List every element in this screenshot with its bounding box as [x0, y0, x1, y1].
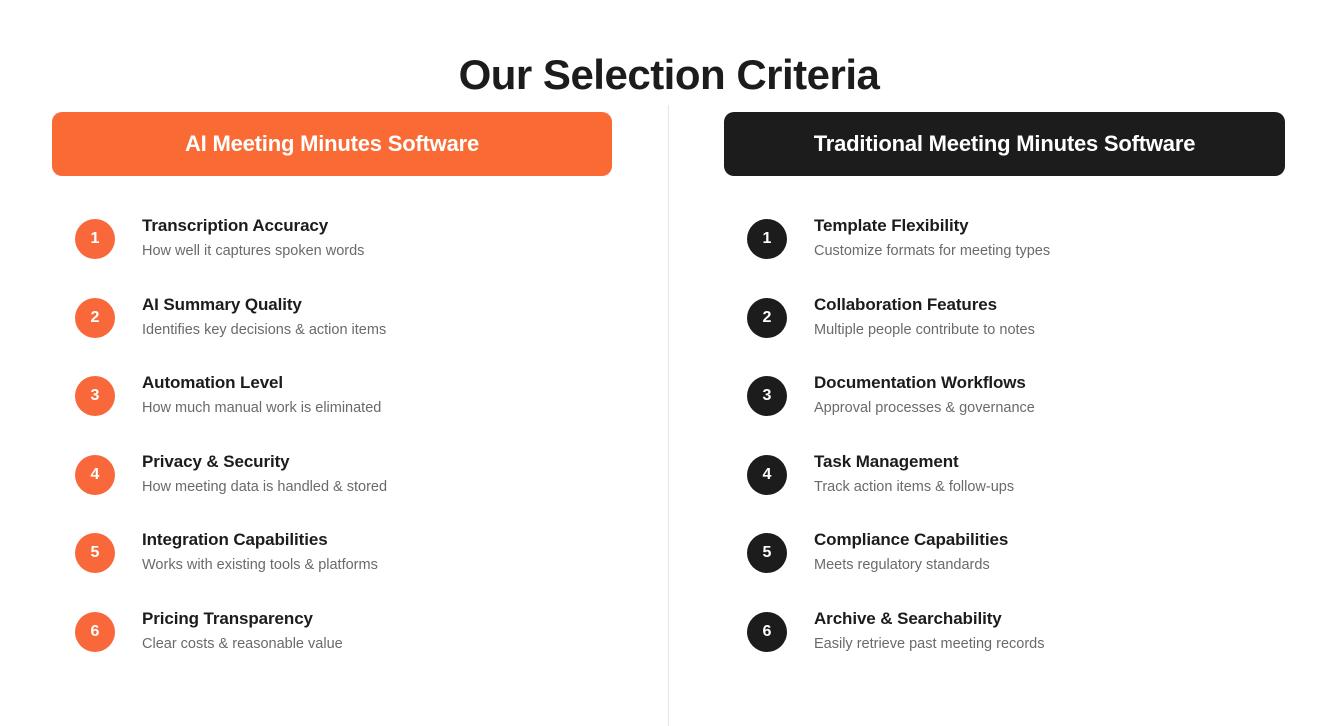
page-title: Our Selection Criteria — [0, 52, 1338, 98]
item-text-block: Documentation Workflows Approval process… — [814, 372, 1035, 419]
item-subtitle: Customize formats for meeting types — [814, 241, 1050, 262]
item-number-badge: 6 — [747, 612, 787, 652]
item-subtitle: How well it captures spoken words — [142, 241, 364, 262]
item-number-badge: 3 — [75, 376, 115, 416]
item-number-badge: 1 — [75, 219, 115, 259]
list-item: 1 Transcription Accuracy How well it cap… — [75, 215, 612, 294]
item-number-badge: 2 — [747, 298, 787, 338]
item-subtitle: Works with existing tools & platforms — [142, 555, 378, 576]
item-text-block: Integration Capabilities Works with exis… — [142, 529, 378, 576]
item-text-block: Collaboration Features Multiple people c… — [814, 294, 1035, 341]
list-item: 3 Automation Level How much manual work … — [75, 372, 612, 451]
list-item: 4 Task Management Track action items & f… — [747, 451, 1285, 530]
list-item: 5 Compliance Capabilities Meets regulato… — [747, 529, 1285, 608]
item-subtitle: Clear costs & reasonable value — [142, 634, 343, 655]
column-header-ai: AI Meeting Minutes Software — [52, 112, 612, 176]
item-subtitle: Multiple people contribute to notes — [814, 320, 1035, 341]
item-title: Collaboration Features — [814, 294, 1035, 315]
column-ai-meeting-minutes-software: AI Meeting Minutes Software 1 Transcript… — [52, 112, 612, 686]
item-subtitle: Approval processes & governance — [814, 398, 1035, 419]
item-title: Integration Capabilities — [142, 529, 378, 550]
criteria-list-ai: 1 Transcription Accuracy How well it cap… — [52, 215, 612, 686]
item-text-block: Pricing Transparency Clear costs & reaso… — [142, 608, 343, 655]
item-text-block: Compliance Capabilities Meets regulatory… — [814, 529, 1008, 576]
item-text-block: Privacy & Security How meeting data is h… — [142, 451, 387, 498]
item-title: Archive & Searchability — [814, 608, 1045, 629]
item-title: Pricing Transparency — [142, 608, 343, 629]
list-item: 5 Integration Capabilities Works with ex… — [75, 529, 612, 608]
item-number-badge: 5 — [75, 533, 115, 573]
list-item: 6 Pricing Transparency Clear costs & rea… — [75, 608, 612, 687]
item-title: Documentation Workflows — [814, 372, 1035, 393]
column-header-traditional: Traditional Meeting Minutes Software — [724, 112, 1285, 176]
item-subtitle: Meets regulatory standards — [814, 555, 1008, 576]
item-title: Automation Level — [142, 372, 381, 393]
item-title: Transcription Accuracy — [142, 215, 364, 236]
item-number-badge: 3 — [747, 376, 787, 416]
item-subtitle: Track action items & follow-ups — [814, 477, 1014, 498]
item-number-badge: 5 — [747, 533, 787, 573]
item-subtitle: How much manual work is eliminated — [142, 398, 381, 419]
list-item: 2 Collaboration Features Multiple people… — [747, 294, 1285, 373]
list-item: 4 Privacy & Security How meeting data is… — [75, 451, 612, 530]
item-text-block: Task Management Track action items & fol… — [814, 451, 1014, 498]
item-number-badge: 4 — [75, 455, 115, 495]
list-item: 6 Archive & Searchability Easily retriev… — [747, 608, 1285, 687]
item-number-badge: 2 — [75, 298, 115, 338]
list-item: 3 Documentation Workflows Approval proce… — [747, 372, 1285, 451]
item-text-block: Transcription Accuracy How well it captu… — [142, 215, 364, 262]
item-number-badge: 1 — [747, 219, 787, 259]
item-subtitle: How meeting data is handled & stored — [142, 477, 387, 498]
item-title: Template Flexibility — [814, 215, 1050, 236]
item-number-badge: 6 — [75, 612, 115, 652]
list-item: 2 AI Summary Quality Identifies key deci… — [75, 294, 612, 373]
item-subtitle: Identifies key decisions & action items — [142, 320, 386, 341]
item-text-block: Archive & Searchability Easily retrieve … — [814, 608, 1045, 655]
item-text-block: Automation Level How much manual work is… — [142, 372, 381, 419]
column-header-label: AI Meeting Minutes Software — [185, 131, 479, 157]
item-title: AI Summary Quality — [142, 294, 386, 315]
criteria-list-traditional: 1 Template Flexibility Customize formats… — [724, 215, 1285, 686]
item-text-block: Template Flexibility Customize formats f… — [814, 215, 1050, 262]
list-item: 1 Template Flexibility Customize formats… — [747, 215, 1285, 294]
item-title: Privacy & Security — [142, 451, 387, 472]
item-title: Task Management — [814, 451, 1014, 472]
item-text-block: AI Summary Quality Identifies key decisi… — [142, 294, 386, 341]
item-subtitle: Easily retrieve past meeting records — [814, 634, 1045, 655]
column-traditional-meeting-minutes-software: Traditional Meeting Minutes Software 1 T… — [724, 112, 1285, 686]
column-header-label: Traditional Meeting Minutes Software — [814, 131, 1196, 157]
item-number-badge: 4 — [747, 455, 787, 495]
column-divider — [668, 105, 669, 726]
item-title: Compliance Capabilities — [814, 529, 1008, 550]
